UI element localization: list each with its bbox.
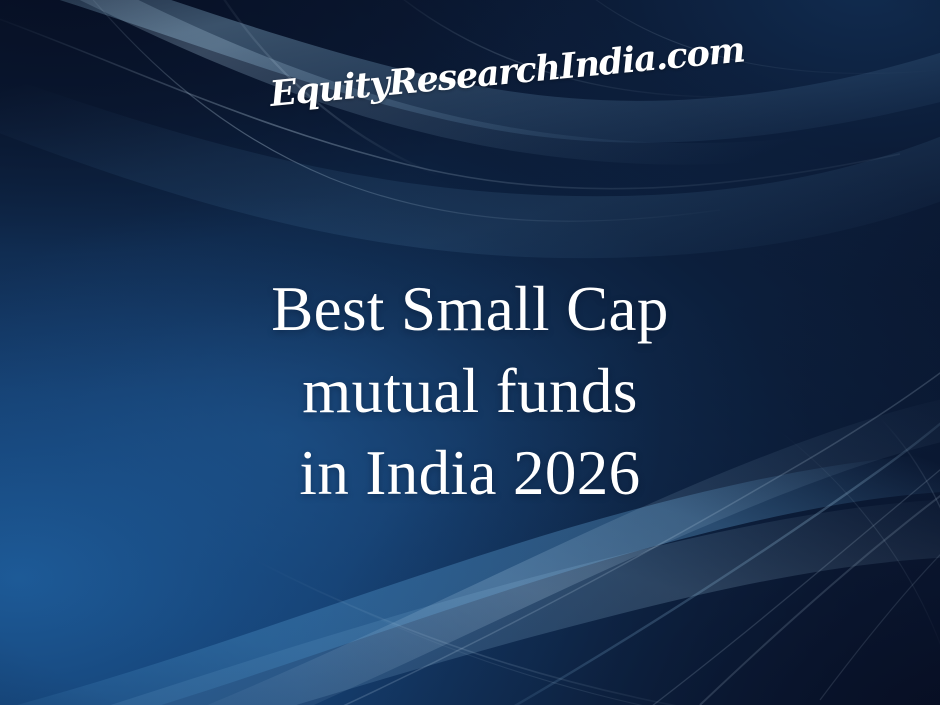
page-title-line-1: Best Small Cap (0, 268, 940, 350)
poster-canvas: EquityResearchIndia.com Best Small Cap m… (0, 0, 940, 705)
page-title-line-2: mutual funds (0, 350, 940, 432)
page-title: Best Small Cap mutual funds in India 202… (0, 268, 940, 514)
page-title-line-3: in India 2026 (0, 432, 940, 514)
